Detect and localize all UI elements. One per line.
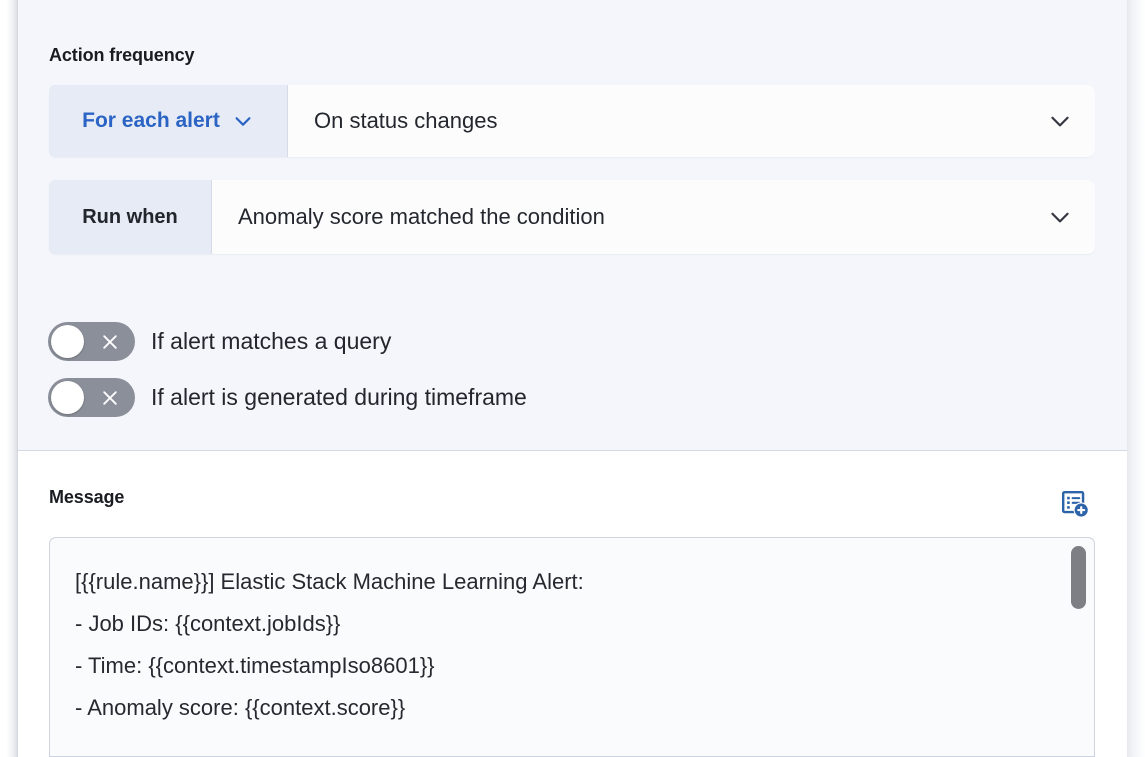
add-variable-icon-button[interactable] <box>1053 483 1097 527</box>
for-each-alert-label: For each alert <box>82 109 220 133</box>
run-when-label: Run when <box>82 206 178 229</box>
message-scrollbar-thumb[interactable] <box>1071 546 1086 609</box>
message-title: Message <box>49 487 124 508</box>
cross-icon <box>100 388 120 408</box>
flyout-panel-container: Action frequency For each alert On statu… <box>0 0 1145 757</box>
chevron-down-icon <box>232 110 254 132</box>
run-when-select-value: Anomaly score matched the condition <box>238 204 605 230</box>
cross-icon <box>100 332 120 352</box>
chevron-down-icon[interactable] <box>1047 204 1073 230</box>
action-frequency-section: Action frequency For each alert On statu… <box>18 0 1127 451</box>
alert-matches-query-row: If alert matches a query <box>48 322 391 361</box>
alert-timeframe-toggle[interactable] <box>48 378 135 417</box>
alert-matches-query-toggle[interactable] <box>48 322 135 361</box>
run-when-select[interactable]: Anomaly score matched the condition <box>212 180 1095 254</box>
message-textarea-value: [{{rule.name}}] Elastic Stack Machine Le… <box>75 561 1049 729</box>
flyout-panel: Action frequency For each alert On statu… <box>18 0 1127 757</box>
chevron-down-icon[interactable] <box>1047 108 1073 134</box>
panel-right-edge-shadow <box>1127 0 1145 757</box>
toggle-knob <box>51 381 84 414</box>
action-frequency-row: For each alert On status changes <box>49 85 1095 157</box>
for-each-alert-dropdown[interactable]: For each alert <box>49 85 288 157</box>
add-variable-icon <box>1060 489 1090 522</box>
alert-timeframe-label: If alert is generated during timeframe <box>151 384 527 411</box>
alert-matches-query-label: If alert matches a query <box>151 328 391 355</box>
run-when-row: Run when Anomaly score matched the condi… <box>49 180 1095 254</box>
for-each-alert-dropdown-trigger[interactable]: For each alert <box>82 109 254 133</box>
notify-when-select[interactable]: On status changes <box>288 85 1095 157</box>
alert-timeframe-row: If alert is generated during timeframe <box>48 378 527 417</box>
message-textarea[interactable]: [{{rule.name}}] Elastic Stack Machine Le… <box>49 537 1095 757</box>
toggle-knob <box>51 325 84 358</box>
panel-left-edge-shadow <box>0 0 18 757</box>
notify-when-select-value: On status changes <box>314 108 497 134</box>
action-frequency-title: Action frequency <box>49 45 194 66</box>
run-when-prepend: Run when <box>49 180 212 254</box>
